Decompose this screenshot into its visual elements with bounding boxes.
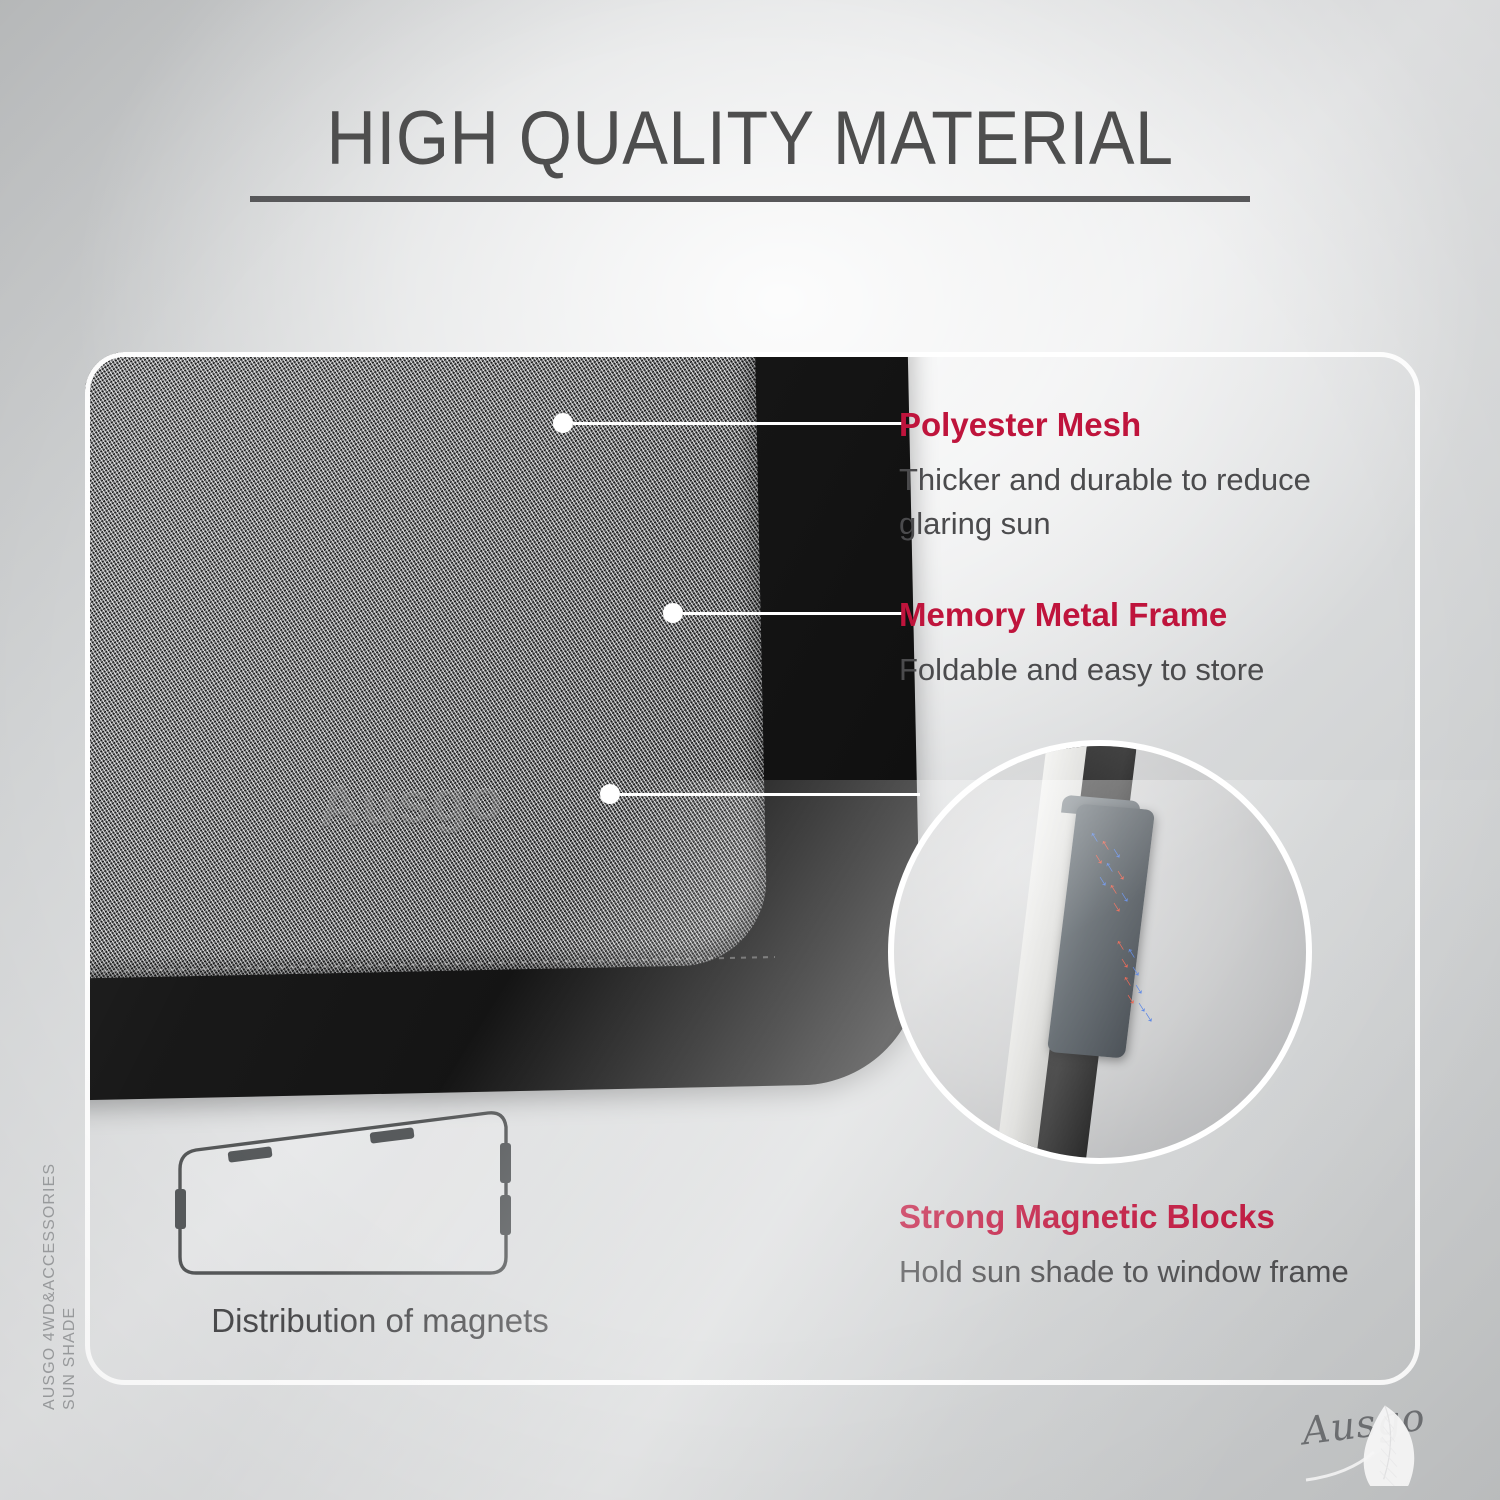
title-underline-rule xyxy=(250,196,1250,202)
infographic-canvas: HIGH QUALITY MATERIAL Ausgo Polyester Me… xyxy=(0,0,1500,1500)
side-vertical-label: AUSGO 4WD&ACCESSORIES SUN SHADE xyxy=(40,1110,80,1410)
brand-mark: Ausgo xyxy=(1296,1396,1486,1486)
side-label-line-2: SUN SHADE xyxy=(60,1110,80,1410)
side-label-line-1: AUSGO 4WD&ACCESSORIES xyxy=(40,1110,60,1410)
page-header: HIGH QUALITY MATERIAL xyxy=(0,96,1500,202)
page-title: HIGH QUALITY MATERIAL xyxy=(75,96,1425,182)
feather-icon xyxy=(1296,1396,1486,1486)
content-frame-border xyxy=(85,352,1420,1385)
